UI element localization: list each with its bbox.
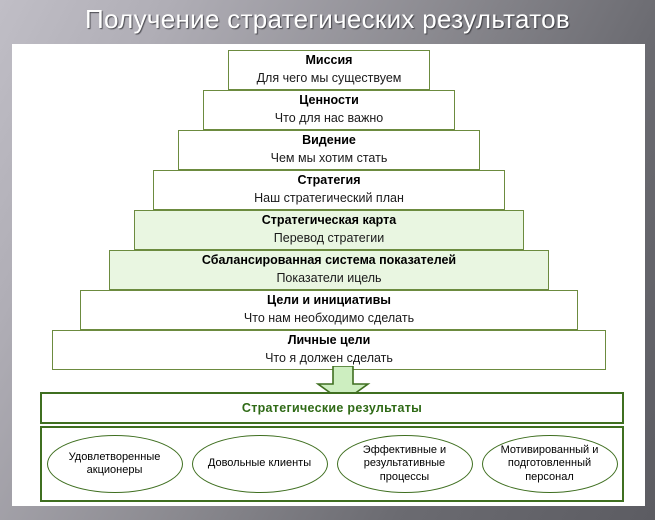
pyramid-level-title: Миссия [229, 52, 429, 69]
pyramid-level-values[interactable]: Ценности Что для нас важно [203, 90, 455, 130]
pyramid-level-subtitle: Наш стратегический план [154, 189, 504, 207]
outcome-label: Эффективные и результативные процессы [344, 444, 466, 485]
pyramid-level-subtitle: Перевод стратегии [135, 229, 523, 247]
pyramid-level-vision[interactable]: Видение Чем мы хотим стать [178, 130, 480, 170]
pyramid-level-subtitle: Для чего мы существуем [229, 69, 429, 87]
pyramid-level-title: Стратегия [154, 172, 504, 189]
pyramid-level-goals-initiatives[interactable]: Цели и инициативы Что нам необходимо сде… [80, 290, 578, 330]
outcome-shareholders[interactable]: Удовлетворенные акционеры [47, 435, 183, 493]
strategy-pyramid: Миссия Для чего мы существуем Ценности Ч… [12, 44, 645, 366]
pyramid-level-mission[interactable]: Миссия Для чего мы существуем [228, 50, 430, 90]
pyramid-level-title: Стратегическая карта [135, 212, 523, 229]
outcomes-row: Удовлетворенные акционеры Довольные клие… [42, 428, 622, 500]
pyramid-level-title: Видение [179, 132, 479, 149]
pyramid-level-title: Личные цели [53, 332, 605, 349]
page-title: Получение стратегических результатов [0, 4, 655, 35]
pyramid-level-subtitle: Показатели ицель [110, 269, 548, 287]
results-header-label: Стратегические результаты [242, 401, 422, 415]
results-header: Стратегические результаты [40, 392, 624, 424]
outcome-personnel[interactable]: Мотивированный и подготовленный персонал [482, 435, 618, 493]
pyramid-level-subtitle: Чем мы хотим стать [179, 149, 479, 167]
pyramid-level-balanced-scorecard[interactable]: Сбалансированная система показателей Пок… [109, 250, 549, 290]
slide-canvas: Получение стратегических результатов Мис… [0, 0, 655, 520]
pyramid-level-strategy-map[interactable]: Стратегическая карта Перевод стратегии [134, 210, 524, 250]
results-outcomes-container: Удовлетворенные акционеры Довольные клие… [40, 426, 624, 502]
pyramid-level-personal-goals[interactable]: Личные цели Что я должен сделать [52, 330, 606, 370]
outcome-label: Удовлетворенные акционеры [54, 451, 176, 478]
pyramid-level-subtitle: Что для нас важно [204, 109, 454, 127]
outcome-processes[interactable]: Эффективные и результативные процессы [337, 435, 473, 493]
pyramid-level-strategy[interactable]: Стратегия Наш стратегический план [153, 170, 505, 210]
pyramid-level-subtitle: Что я должен сделать [53, 349, 605, 367]
pyramid-level-title: Ценности [204, 92, 454, 109]
content-panel: Миссия Для чего мы существуем Ценности Ч… [12, 44, 645, 506]
outcome-customers[interactable]: Довольные клиенты [192, 435, 328, 493]
pyramid-level-title: Цели и инициативы [81, 292, 577, 309]
pyramid-level-title: Сбалансированная система показателей [110, 252, 548, 269]
pyramid-level-subtitle: Что нам необходимо сделать [81, 309, 577, 327]
outcome-label: Довольные клиенты [208, 457, 311, 471]
outcome-label: Мотивированный и подготовленный персонал [489, 444, 611, 485]
